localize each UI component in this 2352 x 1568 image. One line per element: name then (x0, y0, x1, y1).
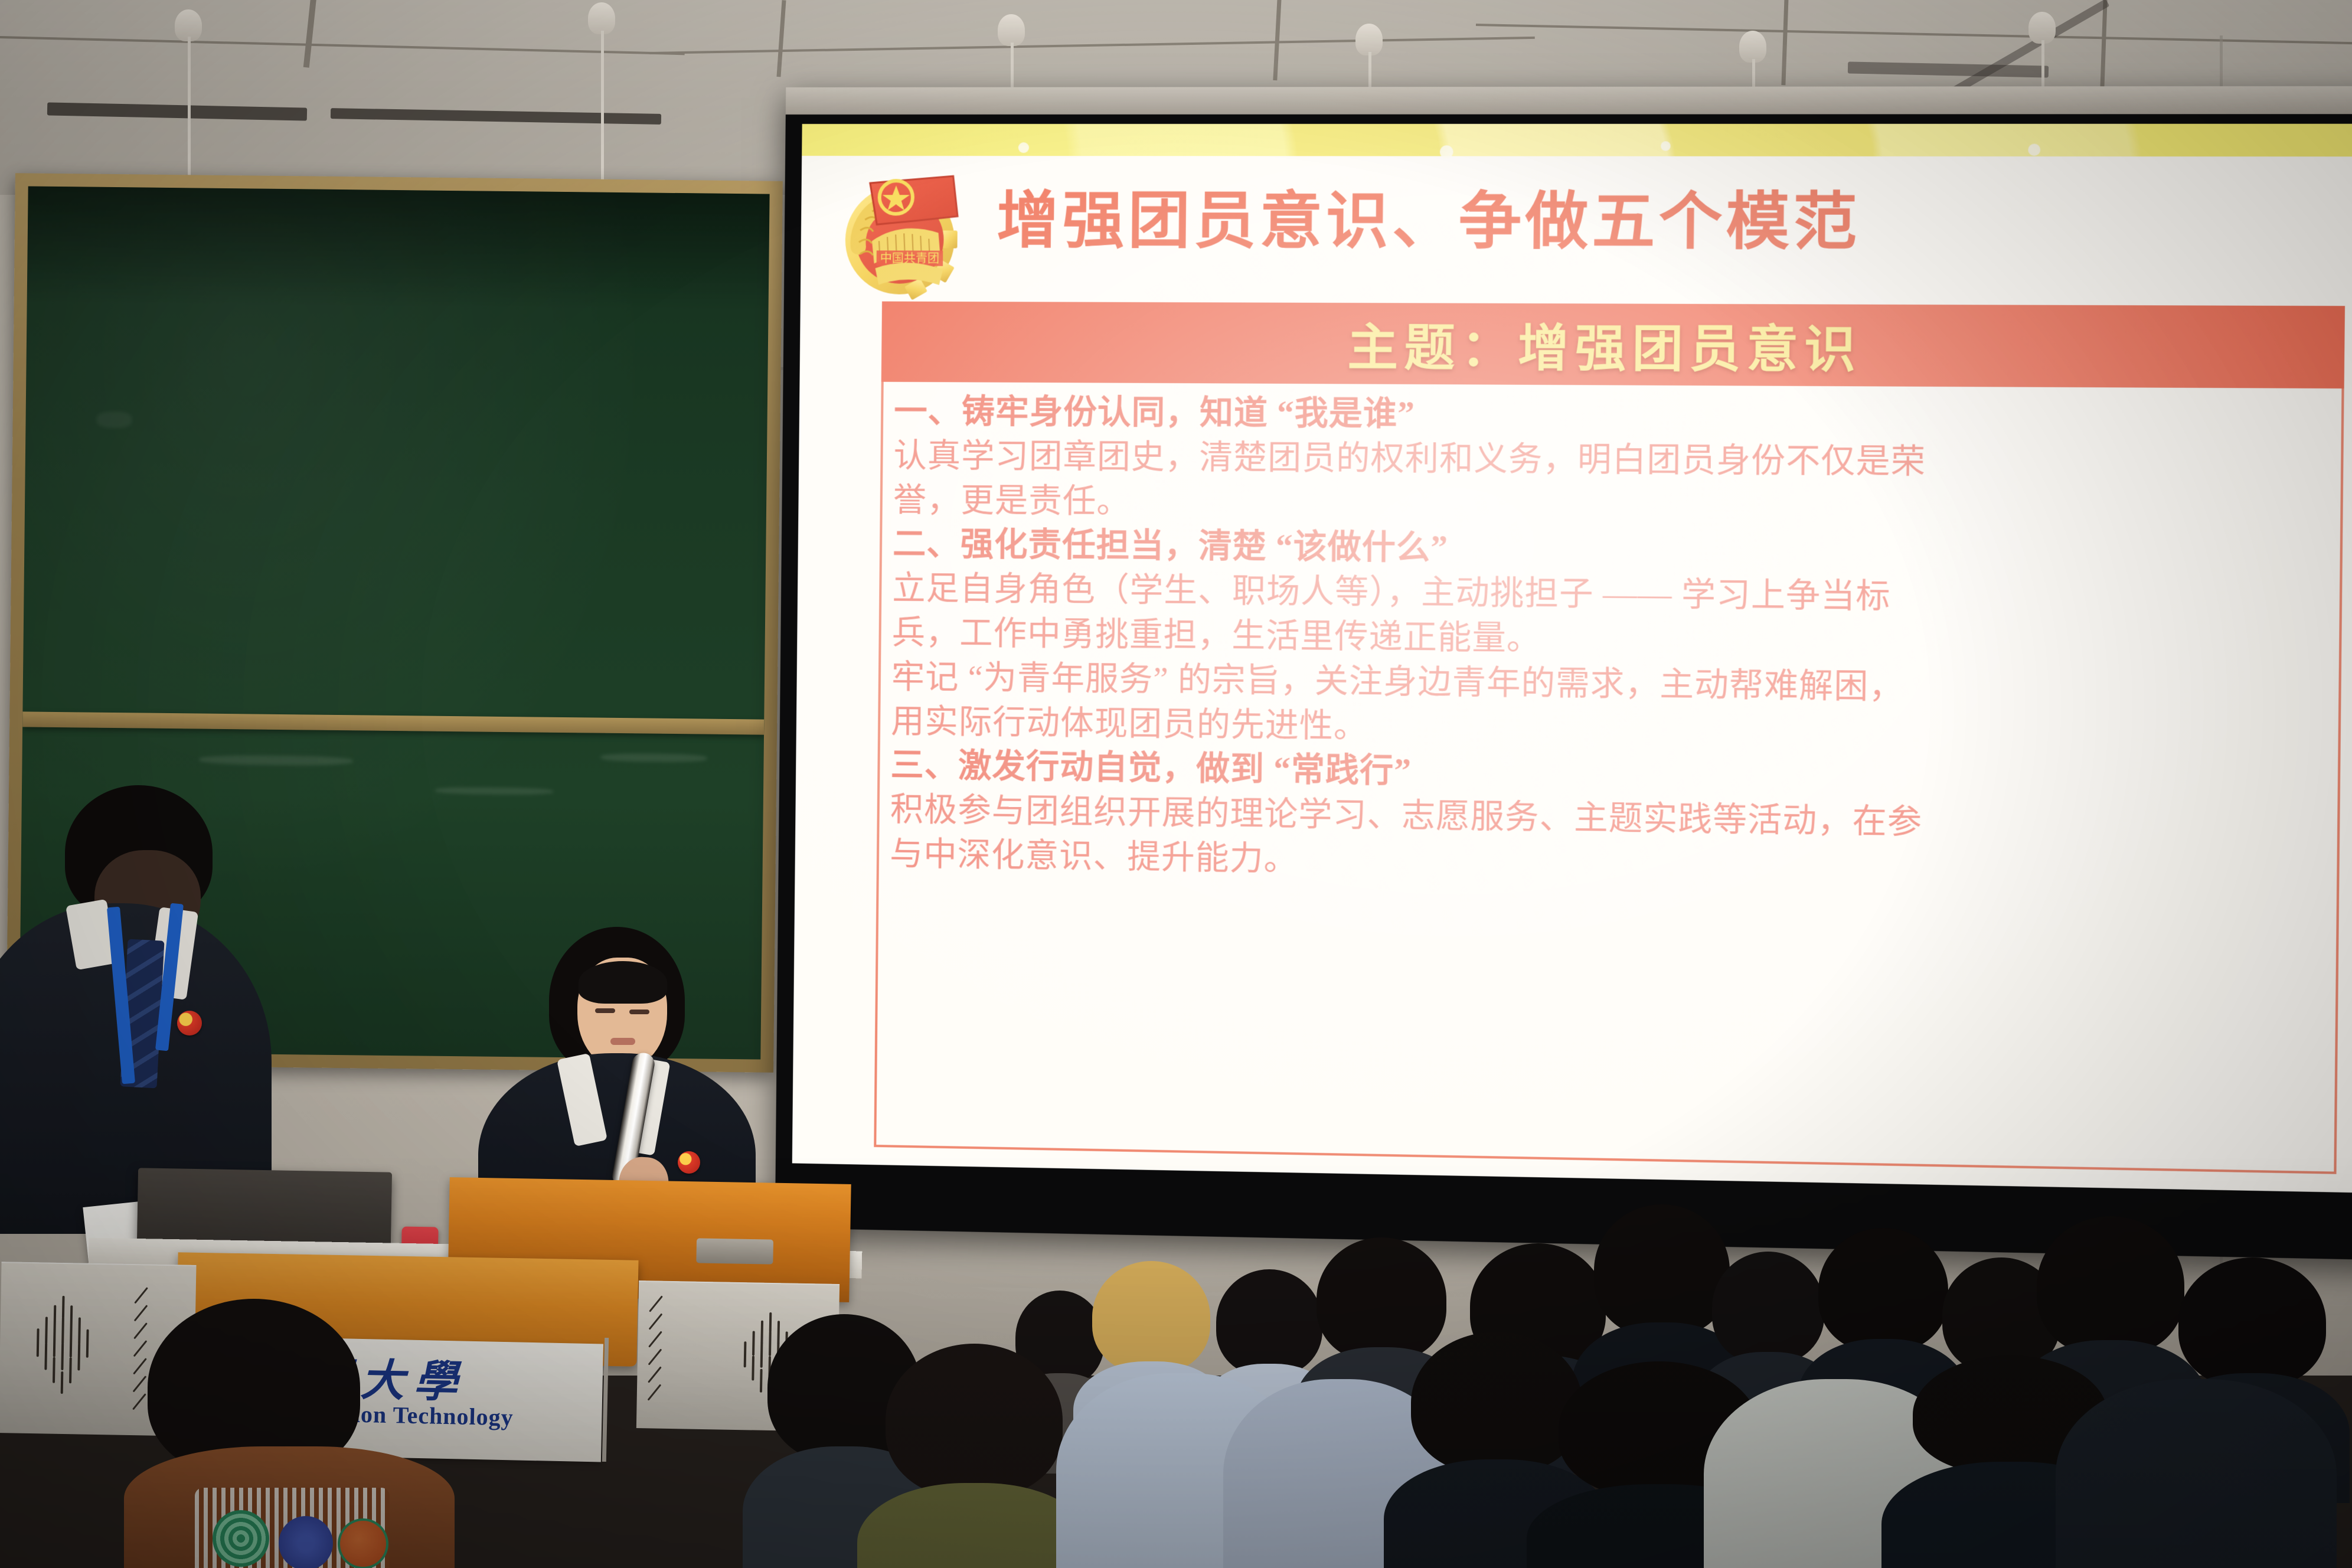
audience-head (2090, 1379, 2302, 1568)
presenter2-eye-left (595, 1008, 615, 1013)
slide-banner: 主题：增强团员意识 (881, 302, 2345, 389)
classroom-assembly-scene: KLITE (0, 0, 2352, 1568)
presentation-slide: 中国共青团 增强团员意识、争做五个模范 主题：增强团员意识 一、铸牢身份认同，知… (792, 124, 2352, 1193)
presenter2-eye-right (629, 1010, 649, 1014)
presenter2-mouth (610, 1038, 635, 1045)
foreground-attendee (35, 1299, 449, 1568)
presenter-lapel-badge (177, 1011, 202, 1035)
foreground-attendee-garment (124, 1446, 455, 1568)
garment-blue-dot-motif (279, 1516, 333, 1568)
section-1-line-1: 认真学习团章团史，清楚团员的权利和义务，明白团员身份不仅是荣 (893, 435, 2332, 486)
projection-screen: 中国共青团 增强团员意识、争做五个模范 主题：增强团员意识 一、铸牢身份认同，知… (775, 86, 2352, 1260)
male-presenter (0, 785, 283, 1234)
presenter2-fringe (579, 961, 667, 1004)
slide-body: 一、铸牢身份认同，知道 “我是谁” 认真学习团章团史，清楚团员的权利和义务，明白… (890, 390, 2333, 896)
garment-green-circle-motif (213, 1510, 269, 1567)
slide-title: 增强团员意识、争做五个模范 (997, 170, 1861, 262)
vent-slash-pattern-2 (653, 1294, 678, 1413)
section-1-heading: 一、铸牢身份认同，知道 “我是谁” (894, 390, 2333, 441)
chalkboard-rail (22, 711, 764, 734)
screen-roller-bar (786, 86, 2352, 115)
presenter2-lapel-badge (678, 1151, 700, 1174)
garment-orange-face-motif (338, 1518, 388, 1568)
communist-youth-league-emblem: 中国共青团 (825, 152, 975, 300)
slide-content-box: 主题：增强团员意识 一、铸牢身份认同，知道 “我是谁” 认真学习团章团史，清楚团… (874, 302, 2345, 1174)
slide-banner-text: 主题：增强团员意识 (1347, 308, 1862, 382)
podium-drawer-handle[interactable] (696, 1238, 773, 1264)
audience-head (886, 1344, 1063, 1568)
